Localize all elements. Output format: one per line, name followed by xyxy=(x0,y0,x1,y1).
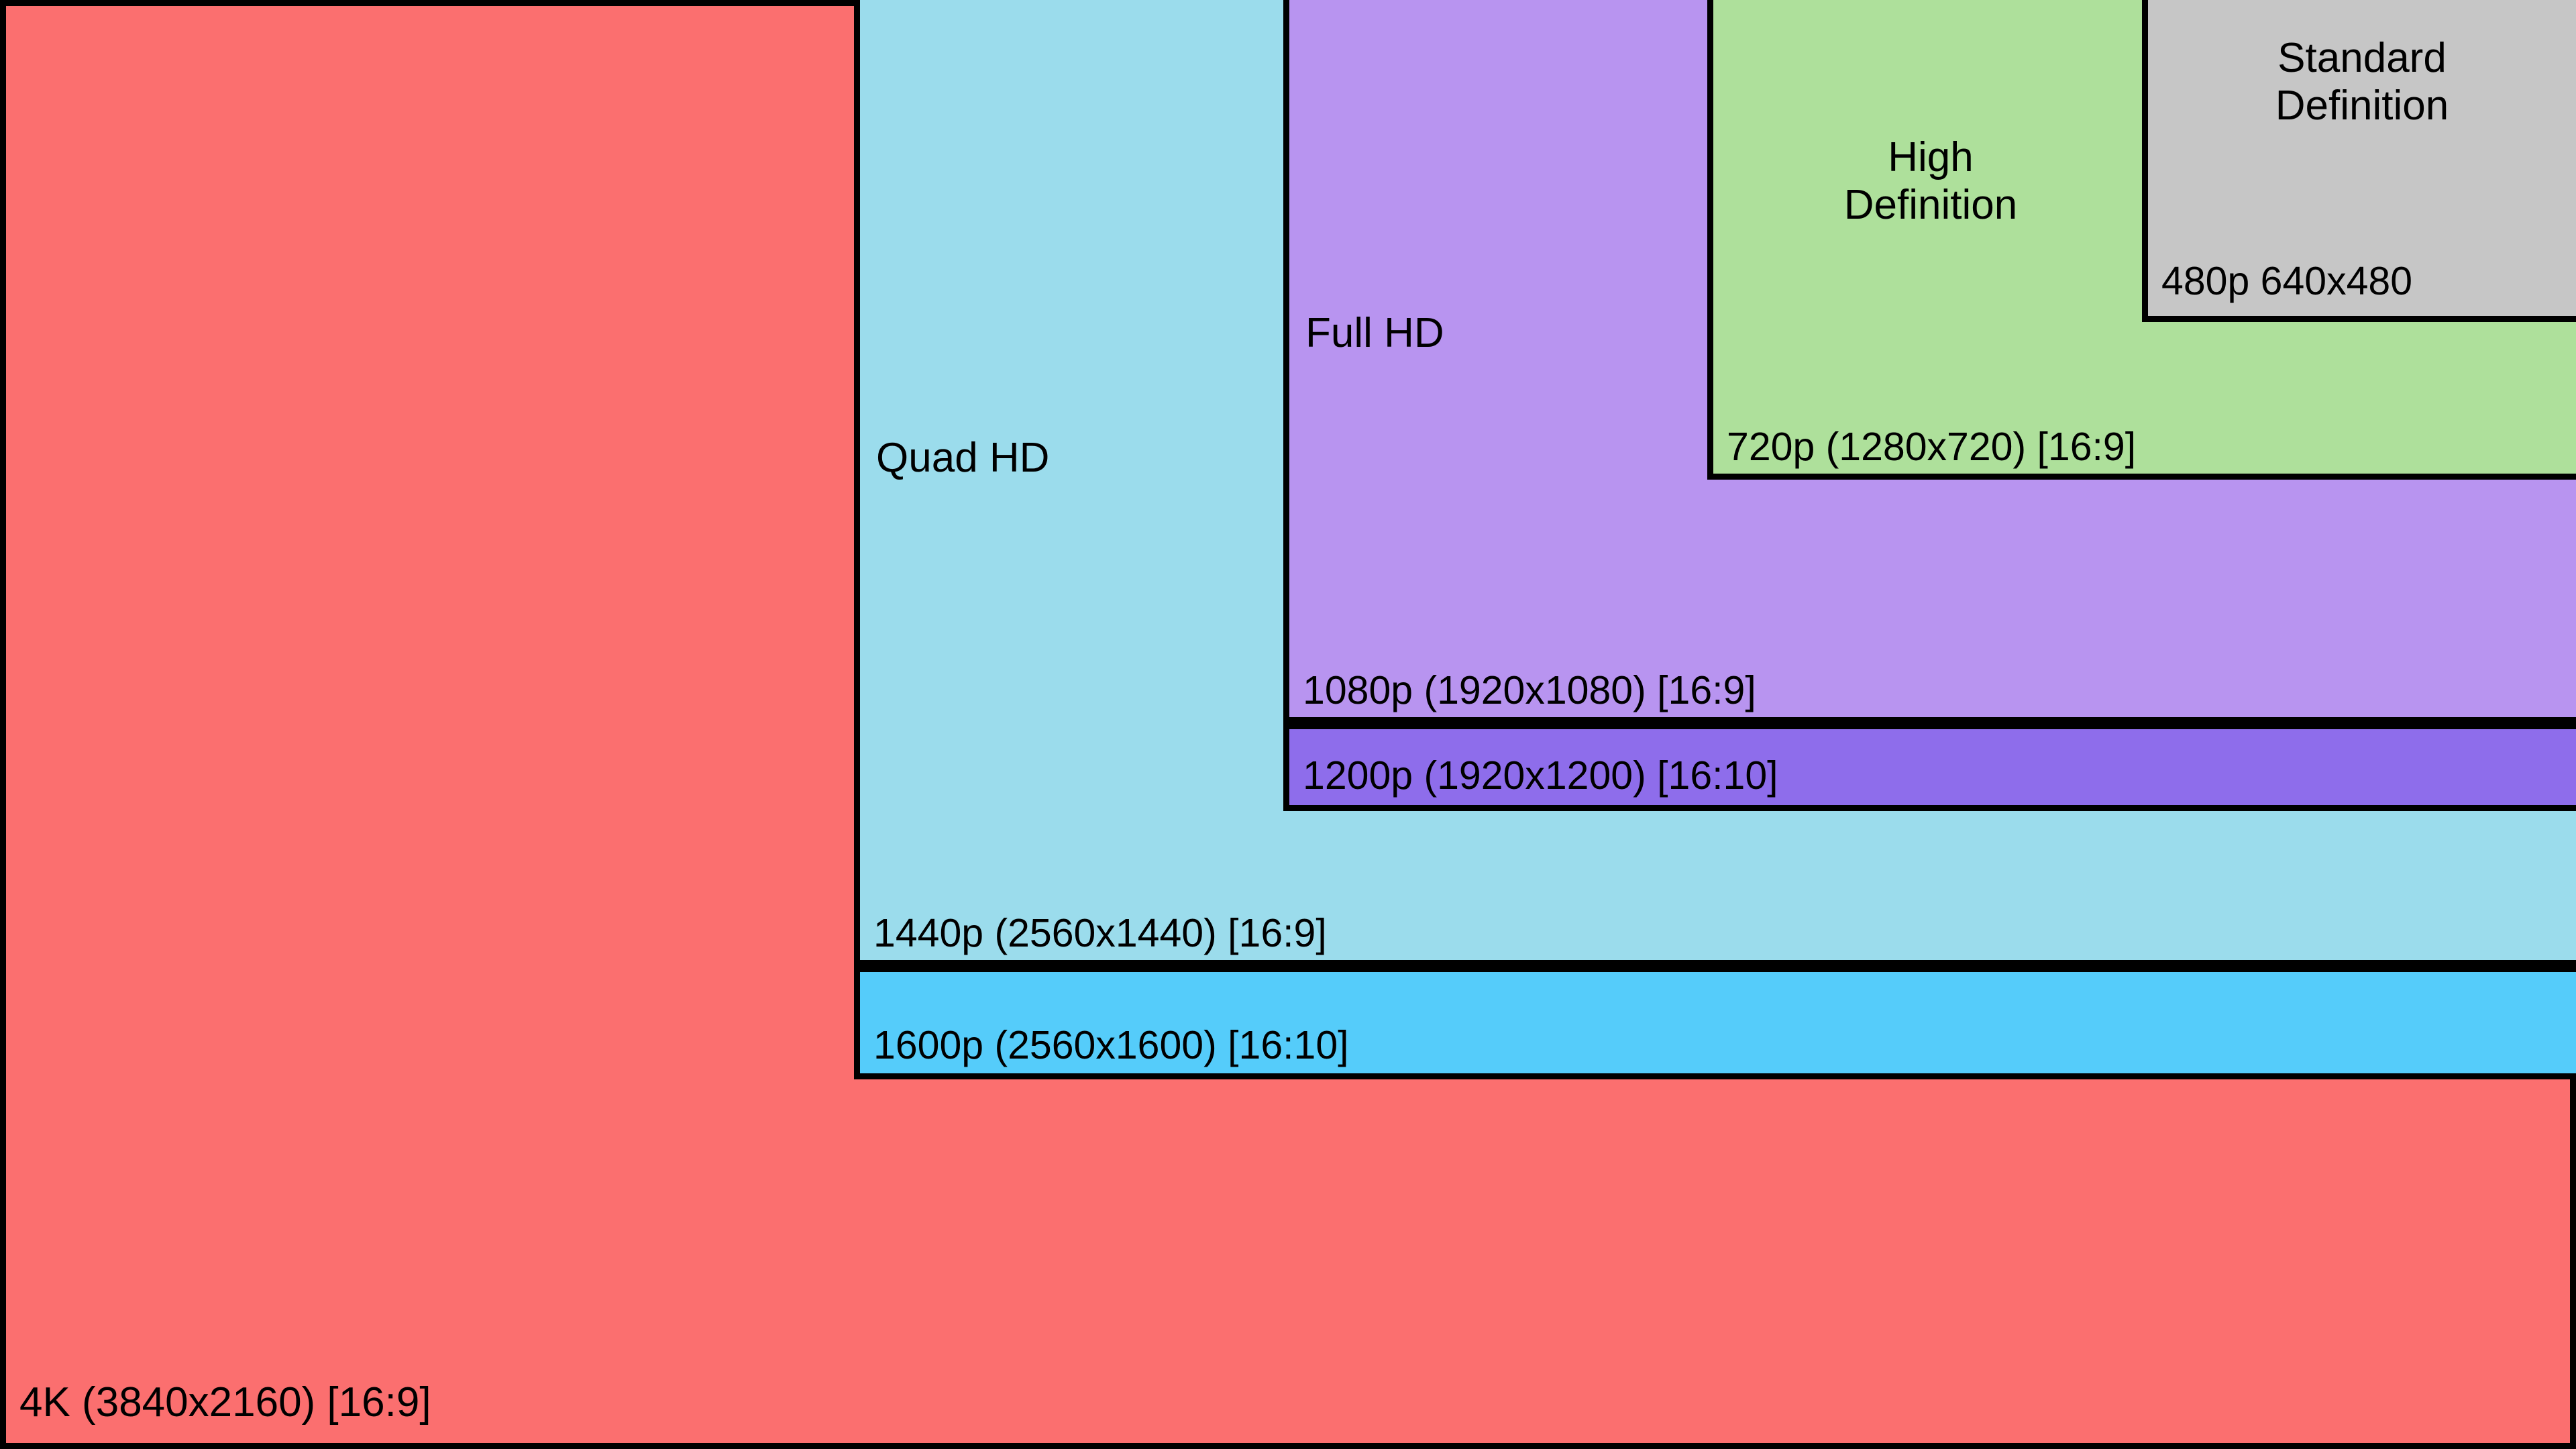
resolution-box-1200p: 1200p (1920x1200) [16:10] xyxy=(1283,723,2576,811)
resolution-label-720p: 720p (1280x720) [16:9] xyxy=(1727,425,2136,470)
resolution-label-1600p: 1600p (2560x1600) [16:10] xyxy=(873,1023,1349,1068)
family-label-standard-definition: Standard Definition xyxy=(2151,35,2573,129)
resolution-comparison-diagram: 4K (3840x2160) [16:9] 1440p (2560x1440) … xyxy=(0,0,2576,1449)
family-label-full-hd: Full HD xyxy=(1293,310,1709,358)
resolution-label-4k: 4K (3840x2160) [16:9] xyxy=(19,1379,431,1427)
family-label-high-definition: High Definition xyxy=(1717,134,2144,229)
resolution-label-1440p: 1440p (2560x1440) [16:9] xyxy=(873,911,1327,956)
resolution-box-1600p: 1600p (2560x1600) [16:10] xyxy=(854,966,2576,1079)
resolution-label-1200p: 1200p (1920x1200) [16:10] xyxy=(1303,753,1778,798)
resolution-label-1080p: 1080p (1920x1080) [16:9] xyxy=(1303,668,1756,713)
resolution-label-480p: 480p 640x480 xyxy=(2161,259,2412,304)
family-label-quad-hd: Quad HD xyxy=(864,435,1287,482)
